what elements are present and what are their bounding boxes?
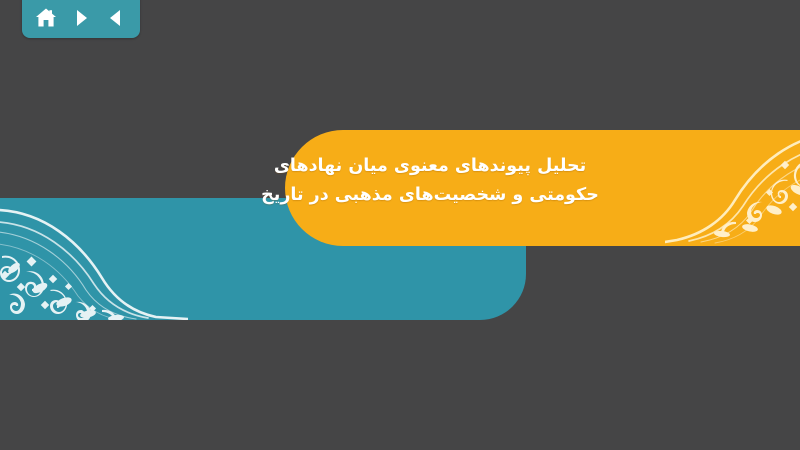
slide-title-line-2: حکومتی و شخصیت‌های مذهبی در تاریخ xyxy=(220,181,640,210)
slide-canvas: تحلیل پیوندهای معنوی میان نهادهای حکومتی… xyxy=(0,0,800,450)
slide-title-line-1: تحلیل پیوندهای معنوی میان نهادهای xyxy=(220,152,640,181)
arabesque-corner-ornament-bottom-left xyxy=(0,202,188,320)
back-arrow-icon xyxy=(106,8,126,28)
home-button[interactable] xyxy=(33,5,59,31)
forward-button[interactable] xyxy=(68,5,94,31)
forward-arrow-icon xyxy=(71,8,91,28)
home-icon xyxy=(35,7,57,29)
arabesque-corner-ornament-top-right xyxy=(665,130,800,246)
slide-title: تحلیل پیوندهای معنوی میان نهادهای حکومتی… xyxy=(220,152,640,210)
back-button[interactable] xyxy=(103,5,129,31)
navigation-toolbar xyxy=(22,0,140,38)
